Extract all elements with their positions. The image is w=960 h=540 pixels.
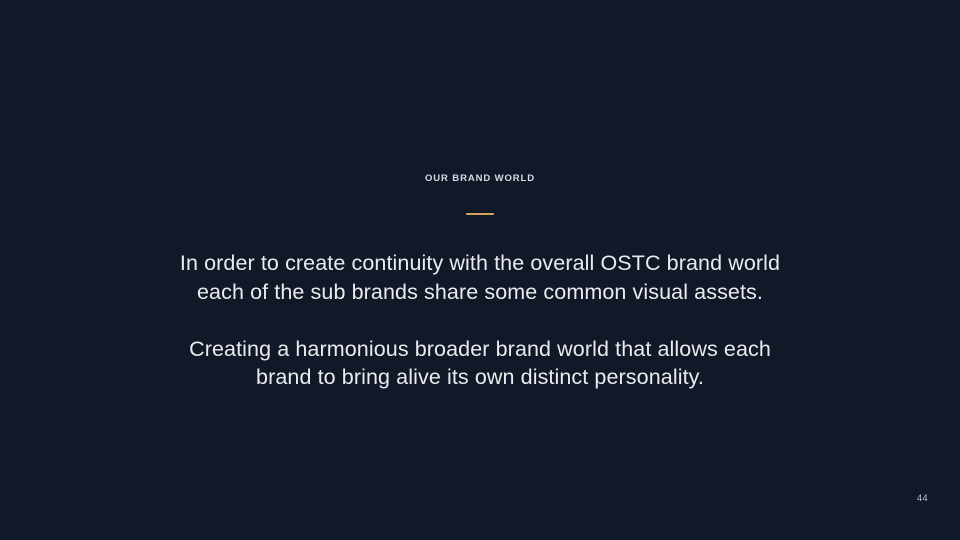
page-number: 44	[917, 493, 928, 505]
slide-body-copy: In order to create continuity with the o…	[0, 249, 960, 392]
body-paragraph-2: Creating a harmonious broader brand worl…	[120, 335, 840, 392]
slide-canvas: OUR BRAND WORLD In order to create conti…	[0, 0, 960, 540]
divider-container	[0, 206, 960, 222]
body-paragraph-1: In order to create continuity with the o…	[120, 249, 840, 306]
slide-eyebrow-label: OUR BRAND WORLD	[0, 172, 960, 186]
gold-divider-rule	[466, 213, 494, 215]
